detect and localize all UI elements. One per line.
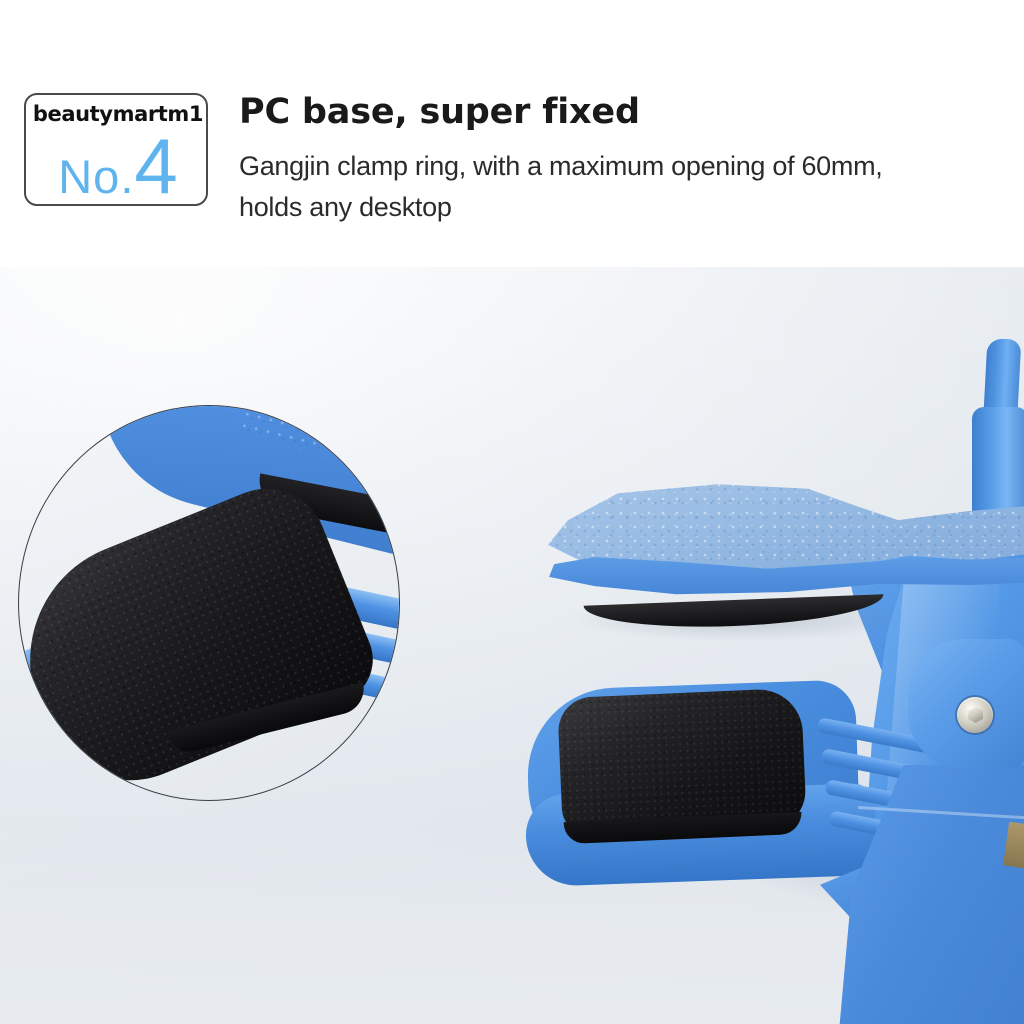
hex-socket-icon — [968, 707, 983, 723]
badge-number-value: 4 — [134, 122, 177, 210]
feature-subtitle-line-2: holds any desktop — [239, 187, 1019, 228]
magnifier-inset — [18, 405, 400, 801]
feature-subtitle-line-1: Gangjin clamp ring, with a maximum openi… — [239, 146, 1019, 187]
product-feature-page: beautymartm1 No.4 PC base, super fixed G… — [0, 0, 1024, 1024]
brand-number-badge: beautymartm1 No.4 — [24, 93, 208, 206]
badge-brand-name: beautymartm1 — [26, 102, 210, 126]
header-section: beautymartm1 No.4 PC base, super fixed G… — [0, 0, 1024, 267]
badge-number-label: No. — [58, 150, 134, 203]
upper-jaw — [548, 482, 1024, 630]
product-photo: The anti-skid pad is not only anti-skid,… — [0, 267, 1024, 1024]
feature-subtitle: Gangjin clamp ring, with a maximum openi… — [239, 146, 1019, 228]
feature-title: PC base, super fixed — [239, 92, 640, 132]
pivot-screw-icon — [957, 697, 993, 733]
badge-number: No.4 — [26, 127, 210, 205]
